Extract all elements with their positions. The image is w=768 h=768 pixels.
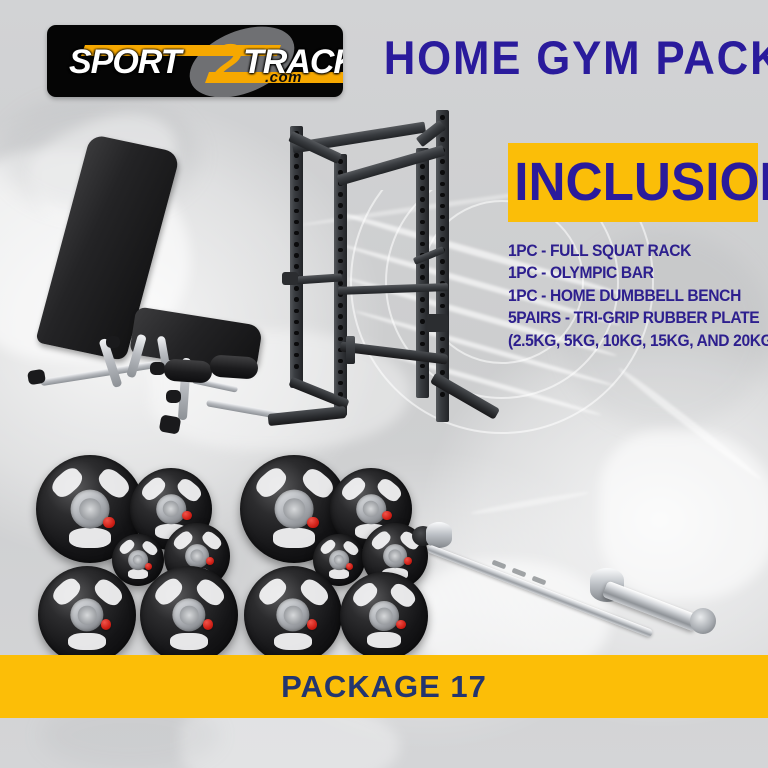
- page-title: HOME GYM PACKAGE: [384, 28, 749, 90]
- bench-leg-roller-lower: [209, 354, 258, 379]
- inclusion-item-squat-rack: 1PC - FULL SQUAT RACK: [508, 240, 749, 262]
- product-squat-rack: [258, 100, 503, 460]
- logo-highlight-char: 2: [213, 37, 242, 89]
- promo-poster: SPORT 2 TRACK .com HOME GYM PACKAGE: [0, 0, 768, 768]
- package-banner: PACKAGE 17: [0, 655, 768, 718]
- inclusion-heading-text: INCLUSION: [514, 143, 752, 222]
- package-label: PACKAGE 17: [0, 655, 768, 718]
- bench-knob-a: [150, 362, 165, 375]
- rack-safety-bar-front: [338, 283, 448, 295]
- barbell-collar-left: [426, 522, 452, 548]
- bench-foot-cap-right: [159, 414, 182, 434]
- rack-foot-cross: [340, 341, 448, 364]
- barbell-knurl-a: [492, 560, 507, 570]
- plate-10kg-a: [38, 566, 136, 664]
- inclusion-header: INCLUSION: [508, 143, 758, 222]
- rack-top-beam-front: [337, 145, 446, 186]
- rack-j-hook-left[interactable]: [282, 272, 298, 285]
- bench-knob-b: [106, 336, 120, 348]
- rack-foot-front-left: [268, 406, 347, 426]
- product-bench: [10, 138, 280, 438]
- barbell-end-cap-right: [690, 608, 716, 634]
- bench-front-leg: [40, 361, 158, 386]
- bench-knob-c: [166, 390, 181, 403]
- inclusion-item-plates: 5PAIRS - TRI-GRIP RUBBER PLATE: [508, 307, 749, 329]
- rack-upright-front-left: [334, 154, 347, 416]
- rack-upright-rear-left: [290, 126, 303, 388]
- plate-10kg-c: [244, 566, 342, 664]
- inclusion-item-olympic-bar: 1PC - OLYMPIC BAR: [508, 262, 749, 284]
- inclusion-item-plate-weights: (2.5KG, 5KG, 10KG, 15KG, AND 20KG): [508, 330, 749, 352]
- plate-10kg-b: [140, 566, 238, 664]
- brand-logo[interactable]: SPORT 2 TRACK .com: [47, 25, 343, 97]
- rack-j-hook-right[interactable]: [426, 314, 448, 332]
- logo-domain-suffix: .com: [265, 69, 302, 86]
- product-olympic-barbell: [400, 490, 740, 620]
- inclusion-list: 1PC - FULL SQUAT RACK 1PC - OLYMPIC BAR …: [508, 240, 764, 352]
- bench-leg-roller-upper: [163, 358, 212, 383]
- rack-base-post: [346, 336, 355, 364]
- inclusion-item-bench: 1PC - HOME DUMBBELL BENCH: [508, 285, 749, 307]
